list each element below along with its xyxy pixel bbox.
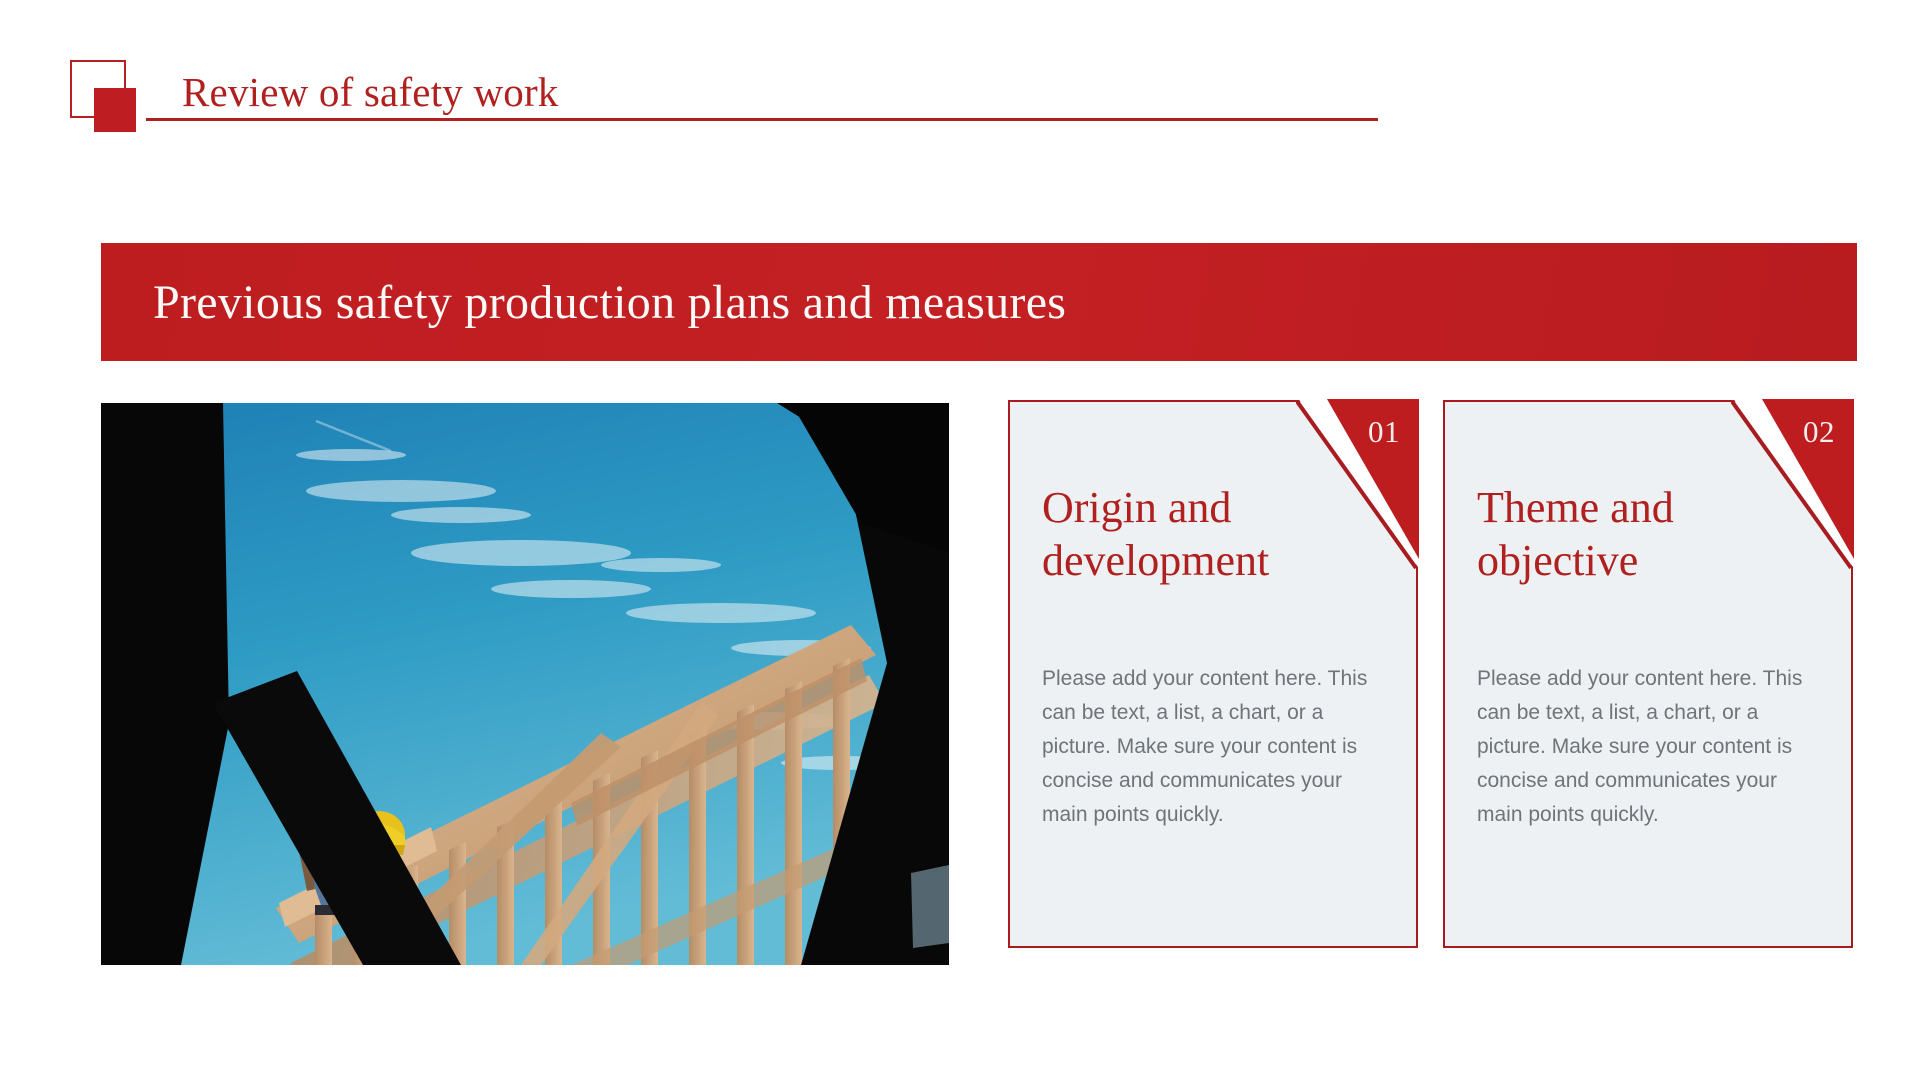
square-overlap-logo-icon <box>62 60 140 132</box>
slide: Review of safety work Previous safety pr… <box>0 0 1920 1080</box>
card-body-text: Please add your content here. This can b… <box>1042 662 1387 832</box>
header-divider-rule <box>146 118 1378 121</box>
card-number-label: 02 <box>1803 414 1835 450</box>
card-number-label: 01 <box>1368 414 1400 450</box>
photo-artwork <box>101 403 949 965</box>
card-origin-and-development[interactable]: 01 Origin and development Please add you… <box>1008 400 1418 948</box>
slide-header: Review of safety work <box>58 38 1378 128</box>
logo-filled-square <box>94 88 136 132</box>
section-banner-title: Previous safety production plans and mea… <box>153 275 1066 330</box>
page-title: Review of safety work <box>182 68 559 116</box>
card-title: Origin and development <box>1042 482 1342 588</box>
card-body-text: Please add your content here. This can b… <box>1477 662 1822 832</box>
construction-worker-photo <box>101 403 949 965</box>
card-theme-and-objective[interactable]: 02 Theme and objective Please add your c… <box>1443 400 1853 948</box>
cards-row: 01 Origin and development Please add you… <box>1008 400 1858 950</box>
card-title: Theme and objective <box>1477 482 1777 588</box>
section-banner: Previous safety production plans and mea… <box>101 243 1857 361</box>
